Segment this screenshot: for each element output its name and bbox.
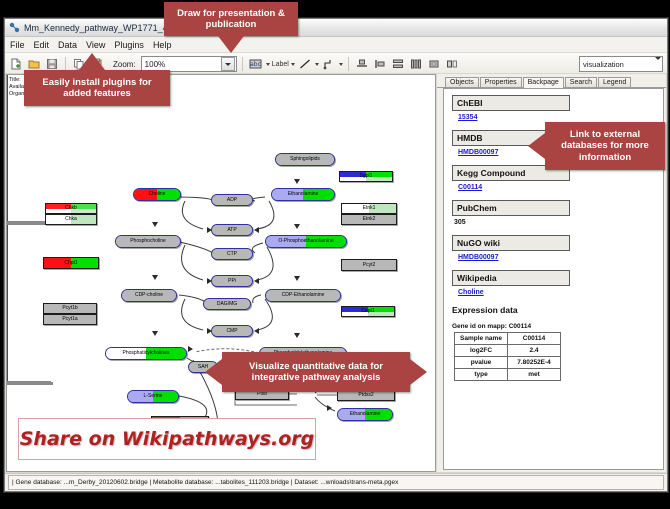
gene-label: Pcyt1b xyxy=(62,306,77,311)
arrowhead-icon xyxy=(152,222,158,227)
tab-backpage[interactable]: Backpage xyxy=(523,77,564,89)
db-header: ChEBI xyxy=(452,95,570,111)
gene-label: Pcyt2 xyxy=(363,263,376,268)
gene-label: Sgpl1 xyxy=(360,174,373,179)
gene-label: Pisd xyxy=(257,392,267,397)
tab-legend[interactable]: Legend xyxy=(598,77,631,88)
gene-label: Ptdss2 xyxy=(358,393,373,398)
gene-node[interactable]: Sgpl1 xyxy=(339,171,393,182)
ungroup-icon[interactable] xyxy=(444,56,460,72)
edge-sphingo-ethanolamine xyxy=(7,225,8,251)
stack-vertical-icon[interactable] xyxy=(390,56,406,72)
metabolite-node[interactable]: Ethanolamine xyxy=(271,188,335,201)
tab-properties[interactable]: Properties xyxy=(480,77,522,88)
side-panel-tabs: ObjectsPropertiesBackpageSearchLegend xyxy=(437,74,666,88)
arrowhead-icon xyxy=(294,333,300,338)
status-text: | Gene database: ...m_Derby_20120602.bri… xyxy=(12,479,398,486)
metabolite-node[interactable]: Phosphocholine xyxy=(115,235,181,248)
data-node-icon[interactable]: abc xyxy=(248,56,264,72)
edge-cdpetn-pe xyxy=(7,333,8,381)
metabolite-label: L-Serine xyxy=(144,394,163,399)
metabolite-node[interactable]: O-Phosphoethanolamine xyxy=(265,235,347,248)
metabolite-node[interactable]: Choline xyxy=(133,188,181,201)
new-file-icon[interactable] xyxy=(8,56,24,72)
chevron-down-icon[interactable] xyxy=(266,63,270,66)
menu-item-view[interactable]: View xyxy=(86,40,105,50)
db-link[interactable]: HMDB00097 xyxy=(458,254,663,261)
metabolite-node[interactable]: CDP-choline xyxy=(121,289,177,302)
chevron-down-icon[interactable] xyxy=(315,63,319,66)
callout-visualize-arrow-left xyxy=(205,359,222,385)
menu-item-file[interactable]: File xyxy=(10,40,25,50)
table-row: typemet xyxy=(455,369,561,381)
edge-phosphoetn-cdpetn xyxy=(7,289,8,333)
gene-node[interactable]: Chkb xyxy=(45,203,97,214)
callout-visualize-arrow-right xyxy=(410,359,427,385)
zoom-value: 100% xyxy=(145,60,165,69)
menu-item-edit[interactable]: Edit xyxy=(34,40,50,50)
table-cell: met xyxy=(508,369,561,381)
table-cell: 7.80252E-4 xyxy=(508,357,561,369)
gene-node[interactable]: Etnk2 xyxy=(341,214,397,225)
table-cell: type xyxy=(455,369,508,381)
chevron-down-icon[interactable] xyxy=(339,63,343,66)
db-link[interactable]: Choline xyxy=(458,289,663,296)
db-link[interactable]: C00114 xyxy=(458,184,663,191)
db-header: NuGO wiki xyxy=(452,235,570,251)
chevron-down-icon[interactable] xyxy=(655,60,661,69)
callout-draw: Draw for presentation & publication xyxy=(164,2,298,36)
arrowhead-icon xyxy=(152,275,158,280)
edge-ethanolamine-phosphoethanolamine xyxy=(7,251,8,289)
metabolite-label: O-Phosphoethanolamine xyxy=(278,239,333,244)
callout-plugins-text: Easily install plugins for added feature… xyxy=(30,77,164,100)
metabolite-label: Ethanolamine xyxy=(350,412,381,417)
metabolite-label: Sphingolipids xyxy=(290,157,320,162)
metabolite-label: Phosphocholine xyxy=(130,239,166,244)
metabolite-label: ATP xyxy=(227,228,236,233)
gene-id-line: Gene id on mapp: C00114 xyxy=(452,323,663,330)
edge-cept1-enzyme xyxy=(7,384,53,385)
table-cell: Sample name xyxy=(455,333,508,345)
arrowhead-icon xyxy=(254,328,259,334)
callout-link-text: Link to external databases for more info… xyxy=(551,129,659,164)
gene-node[interactable]: Chpt1 xyxy=(43,257,99,269)
arrowhead-icon xyxy=(254,278,259,284)
gene-node[interactable]: Etnk1 xyxy=(341,203,397,214)
pathway-canvas[interactable]: Title: Availa Organi xyxy=(6,74,436,472)
align-top-icon[interactable] xyxy=(354,56,370,72)
visualization-value: visualization xyxy=(583,60,624,69)
metabolite-label: CDP-choline xyxy=(135,293,163,298)
expression-data-title: Expression data xyxy=(452,305,663,315)
callout-visualize: Visualize quantitative data for integrat… xyxy=(222,352,410,392)
arrowhead-icon xyxy=(188,346,193,352)
callout-plugins: Easily install plugins for added feature… xyxy=(24,70,170,106)
arrowhead-icon xyxy=(327,405,332,411)
gene-node[interactable]: Pcyt1a xyxy=(43,314,97,325)
db-value: 305 xyxy=(454,219,663,226)
metabolite-node[interactable]: CMP xyxy=(211,325,253,337)
arrowhead-icon xyxy=(294,179,300,184)
gene-label: Cept1 xyxy=(361,309,374,314)
menu-bar: File Edit Data View Plugins Help xyxy=(5,37,667,53)
callout-draw-text: Draw for presentation & publication xyxy=(170,8,292,31)
metabolite-node[interactable]: L-Serine xyxy=(127,390,179,403)
metabolite-label: Phosphatidylcholines xyxy=(123,351,170,356)
callout-share: Share on Wikipathways.org xyxy=(18,418,316,460)
label-tool-label: Label xyxy=(272,61,289,68)
db-header: Wikipedia xyxy=(452,270,570,286)
table-row: Sample nameC00114 xyxy=(455,333,561,345)
edge-choline-phosphocholine xyxy=(7,75,8,127)
group-icon[interactable] xyxy=(426,56,442,72)
table-cell: pvalue xyxy=(455,357,508,369)
gene-node[interactable]: Pcyt2 xyxy=(341,259,397,271)
gene-label: Pcyt1a xyxy=(62,317,77,322)
metabolite-label: CTP xyxy=(227,252,237,257)
callout-link: Link to external databases for more info… xyxy=(545,122,665,170)
edge-phosphocholine-cdpcholine xyxy=(7,127,8,173)
table-row: log2FC2.4 xyxy=(455,345,561,357)
metabolite-label: CMP xyxy=(226,329,237,334)
metabolite-node[interactable]: DAG/MG xyxy=(203,298,251,310)
metabolite-label: ADP xyxy=(227,198,237,203)
gene-label: Chpt1 xyxy=(64,261,77,266)
gene-node[interactable]: Cept1 xyxy=(341,306,395,317)
metabolite-label: DAG/MG xyxy=(217,302,237,307)
db-link[interactable]: 15354 xyxy=(458,114,663,121)
menu-item-help[interactable]: Help xyxy=(153,40,172,50)
gene-label: Chkb xyxy=(65,206,77,211)
chevron-down-icon[interactable] xyxy=(291,63,295,66)
distribute-icon[interactable] xyxy=(408,56,424,72)
status-bar: | Gene database: ...m_Derby_20120602.bri… xyxy=(5,473,667,491)
callout-draw-arrow xyxy=(218,36,244,53)
table-cell: 2.4 xyxy=(508,345,561,357)
metabolite-label: CDP-Ethanolamine xyxy=(282,293,325,298)
metabolite-node[interactable]: CTP xyxy=(211,248,253,260)
metabolite-label: PPi xyxy=(228,279,236,284)
edge-cdpcholine-ptdcholine xyxy=(7,173,8,221)
tab-objects[interactable]: Objects xyxy=(445,77,479,88)
table-cell: log2FC xyxy=(455,345,508,357)
align-left-icon[interactable] xyxy=(372,56,388,72)
gene-node[interactable]: Chka xyxy=(45,214,97,225)
arrowhead-icon xyxy=(294,276,300,281)
line-icon[interactable] xyxy=(297,56,313,72)
table-row: pvalue7.80252E-4 xyxy=(455,357,561,369)
arrowhead-icon xyxy=(152,331,158,336)
metabolite-node[interactable]: ATP xyxy=(211,224,253,236)
gene-label: Chka xyxy=(65,217,77,222)
visualization-select[interactable]: visualization xyxy=(579,56,663,72)
gene-label: Etnk2 xyxy=(363,217,376,222)
metabolite-label: Ethanolamine xyxy=(288,192,319,197)
expression-table: Sample nameC00114log2FC2.4pvalue7.80252E… xyxy=(454,332,561,381)
callout-visualize-text: Visualize quantitative data for integrat… xyxy=(228,361,404,384)
metabolite-node[interactable]: Ethanolamine xyxy=(337,408,393,421)
title-bar: Mm_Kennedy_pathway_WP1771_45176.gpml xyxy=(5,19,667,37)
tab-search[interactable]: Search xyxy=(565,77,597,88)
toolbar-separator xyxy=(348,57,349,71)
callout-plugins-arrow xyxy=(79,53,105,70)
metabolite-node[interactable]: CDP-Ethanolamine xyxy=(265,289,341,302)
chevron-down-icon[interactable] xyxy=(221,57,235,71)
metabolite-node[interactable]: ADP xyxy=(211,194,253,206)
metabolite-node[interactable]: Sphingolipids xyxy=(275,153,335,166)
gene-label: Etnk1 xyxy=(363,206,376,211)
table-cell: C00114 xyxy=(508,333,561,345)
toolbar-separator xyxy=(242,57,243,71)
arrowhead-icon xyxy=(294,224,300,229)
pathvisio-icon xyxy=(9,22,20,33)
gene-node[interactable]: Pcyt1b xyxy=(43,303,97,314)
menu-item-data[interactable]: Data xyxy=(58,40,77,50)
arrowhead-icon xyxy=(254,227,259,233)
metabolite-node[interactable]: Phosphatidylcholines xyxy=(105,347,187,360)
metabolite-node[interactable]: PPi xyxy=(211,275,253,287)
menu-item-plugins[interactable]: Plugins xyxy=(114,40,144,50)
connector-icon[interactable] xyxy=(321,56,337,72)
metabolite-label: Choline xyxy=(149,192,166,197)
callout-share-text: Share on Wikipathways.org xyxy=(20,428,314,450)
callout-link-arrow xyxy=(528,133,545,159)
db-header: PubChem xyxy=(452,200,570,216)
zoom-label: Zoom: xyxy=(113,60,136,69)
toolbar-separator xyxy=(65,57,66,71)
svg-text:abc: abc xyxy=(250,61,261,68)
